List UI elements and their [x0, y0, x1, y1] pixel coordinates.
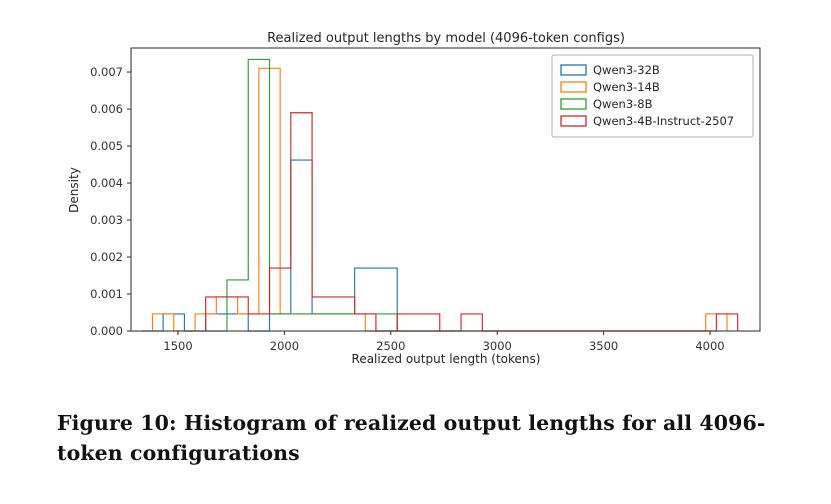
x-tick-label: 2500: [376, 339, 405, 353]
y-tick-label: 0.005: [90, 139, 123, 153]
x-tick-label: 3000: [483, 339, 512, 353]
histogram-chart: Realized output lengths by model (4096-t…: [0, 0, 831, 385]
y-tick-label: 0.004: [90, 176, 123, 190]
y-axis-label: Density: [67, 167, 81, 213]
y-tick-label: 0.007: [90, 65, 123, 79]
legend-label: Qwen3-4B-Instruct-2507: [593, 114, 734, 128]
y-tick-label: 0.000: [90, 324, 123, 338]
legend-label: Qwen3-8B: [593, 97, 653, 111]
x-axis-label: Realized output length (tokens): [352, 352, 541, 366]
x-tick-label: 3500: [589, 339, 618, 353]
x-tick-label: 2000: [270, 339, 299, 353]
histogram-step-qwen3-8b: [206, 59, 398, 331]
histogram-step-qwen3-4b-instruct-2507: [206, 113, 738, 331]
chart-title: Realized output lengths by model (4096-t…: [267, 31, 625, 46]
legend-label: Qwen3-14B: [593, 80, 660, 94]
x-tick-label: 4000: [695, 339, 724, 353]
y-tick-label: 0.001: [90, 287, 123, 301]
y-tick-label: 0.003: [90, 213, 123, 227]
y-tick-label: 0.002: [90, 250, 123, 264]
figure-histogram: Realized output lengths by model (4096-t…: [0, 0, 831, 385]
y-tick-label: 0.006: [90, 102, 123, 116]
x-axis-ticks: 150020002500300035004000: [163, 331, 724, 353]
page-root: Realized output lengths by model (4096-t…: [0, 0, 831, 504]
legend-label: Qwen3-32B: [593, 63, 660, 77]
y-axis-ticks: 0.0000.0010.0020.0030.0040.0050.0060.007: [90, 65, 131, 338]
x-tick-label: 1500: [163, 339, 192, 353]
chart-legend: Qwen3-32BQwen3-14BQwen3-8BQwen3-4B-Instr…: [552, 55, 753, 137]
figure-caption: Figure 10: Histogram of realized output …: [57, 408, 777, 468]
